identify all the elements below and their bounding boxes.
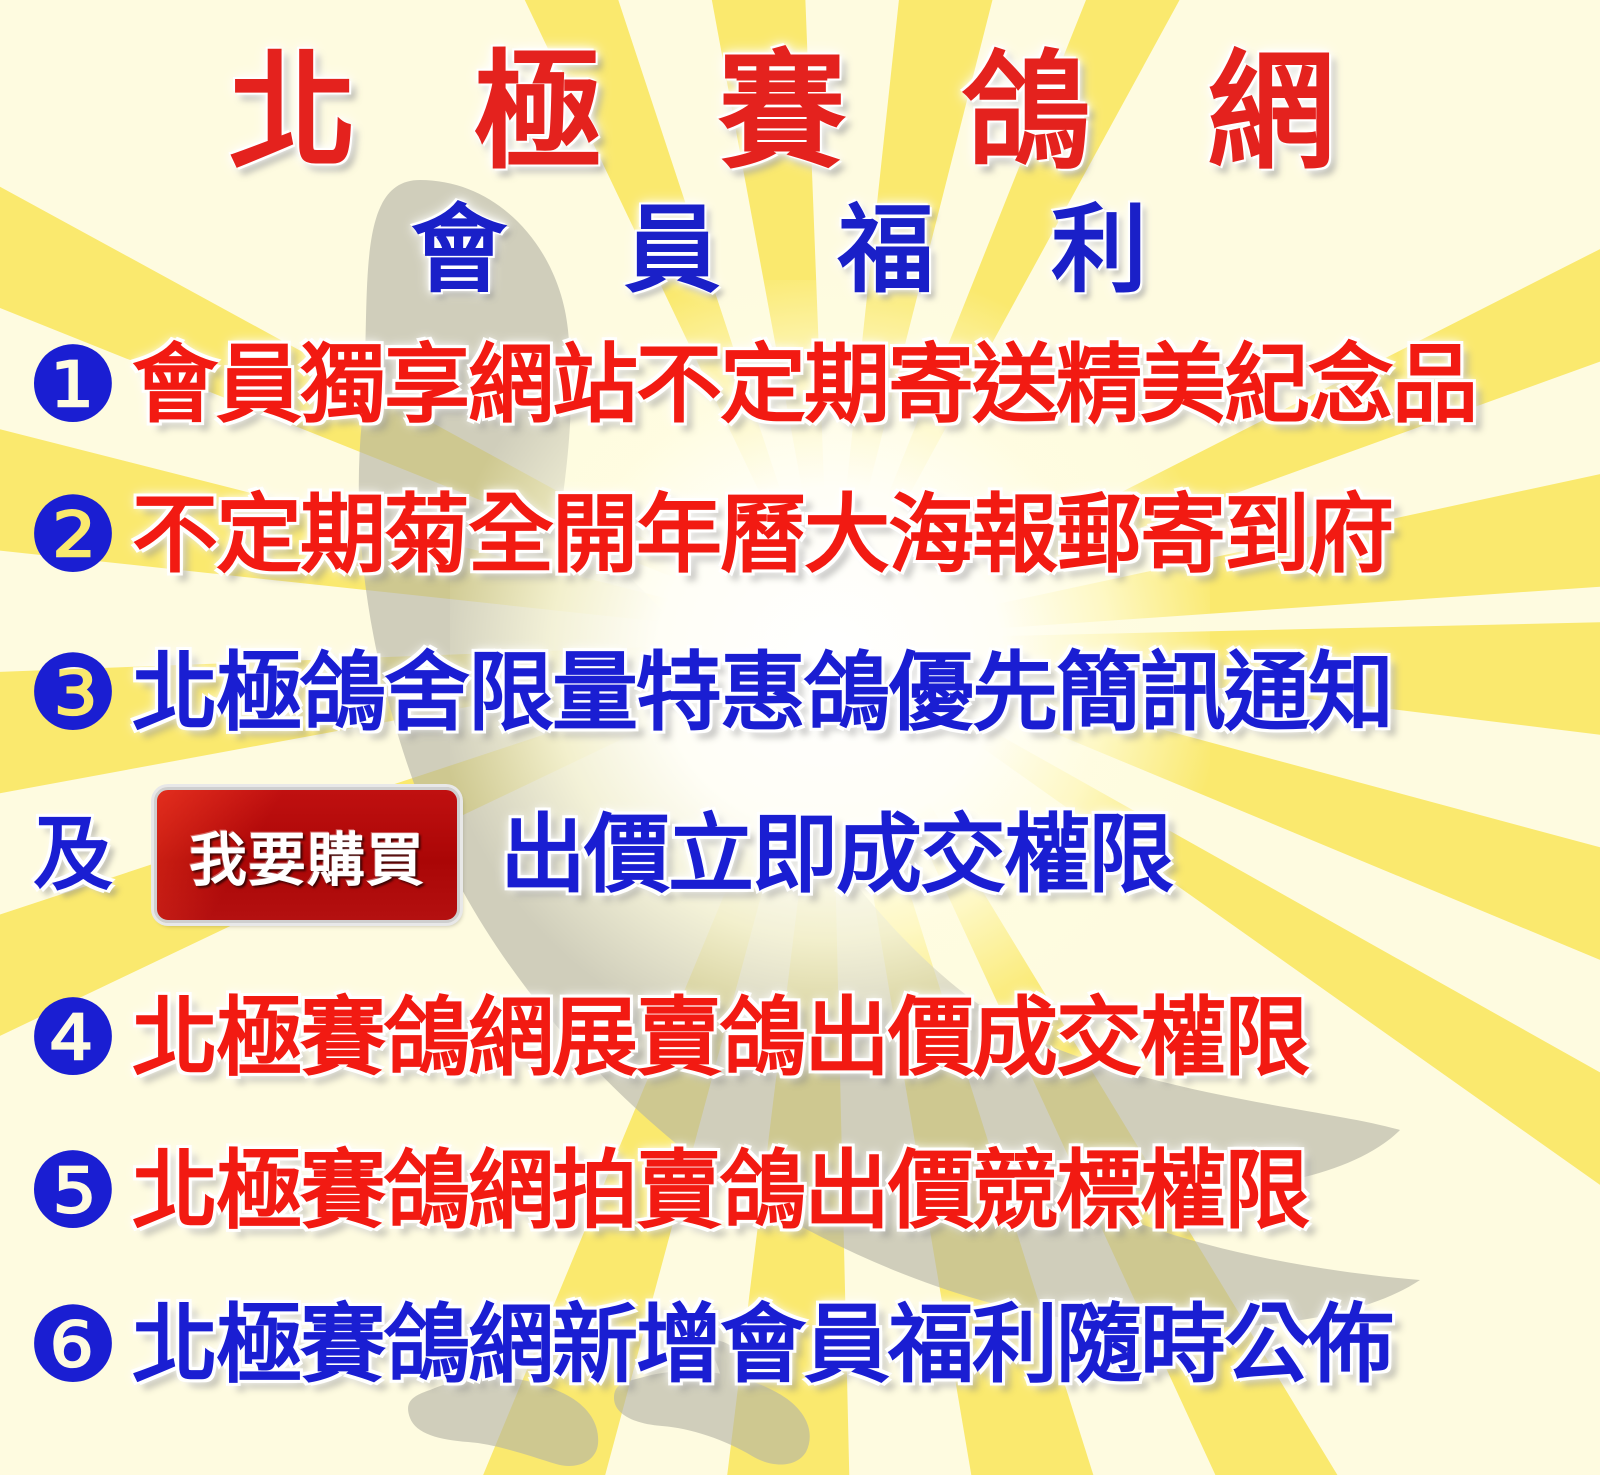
buy-now-button-label: 我要購買	[189, 813, 425, 897]
benefit-number-4: ❹	[14, 986, 132, 1090]
benefit-text-1: 會員獨享網站不定期寄送精美紀念品	[132, 342, 1476, 428]
benefit-row-2: ❷ 不定期菊全開年曆大海報郵寄到府	[0, 472, 1600, 598]
benefit-text-3: 北極鴿舍限量特惠鴿優先簡訊通知	[132, 650, 1392, 736]
benefit-row-4: ❹ 北極賽鴿網展賣鴿出價成交權限	[0, 975, 1600, 1101]
benefit-number-6: ❻	[14, 1293, 132, 1397]
purchase-row-prefix: 及	[14, 815, 132, 895]
benefit-number-5: ❺	[14, 1139, 132, 1243]
benefit-row-1: ❶ 會員獨享網站不定期寄送精美紀念品	[0, 322, 1600, 448]
benefit-text-4: 北極賽鴿網展賣鴿出價成交權限	[132, 995, 1308, 1081]
page-title-sub: 會 員 福 利	[0, 172, 1600, 311]
benefit-text-5: 北極賽鴿網拍賣鴿出價競標權限	[132, 1148, 1308, 1234]
benefit-text-2: 不定期菊全開年曆大海報郵寄到府	[132, 492, 1392, 578]
benefit-row-6: ❻ 北極賽鴿網新增會員福利隨時公佈	[0, 1282, 1600, 1408]
purchase-row-suffix: 出價立即成交權限	[500, 812, 1172, 898]
buy-now-button[interactable]: 我要購買	[154, 787, 460, 923]
page-title-main: 北 極 賽 鴿 網	[0, 8, 1600, 193]
member-benefits-poster: 北 極 賽 鴿 網 會 員 福 利 ❶ 會員獨享網站不定期寄送精美紀念品 ❷ 不…	[0, 0, 1600, 1475]
benefit-number-3: ❸	[14, 641, 132, 745]
benefit-row-3: ❸ 北極鴿舍限量特惠鴿優先簡訊通知	[0, 630, 1600, 756]
benefit-number-2: ❷	[14, 483, 132, 587]
benefit-text-6: 北極賽鴿網新增會員福利隨時公佈	[132, 1302, 1392, 1388]
purchase-permission-row: 及 我要購買 出價立即成交權限	[0, 780, 1600, 930]
benefit-row-5: ❺ 北極賽鴿網拍賣鴿出價競標權限	[0, 1128, 1600, 1254]
poster-content: 北 極 賽 鴿 網 會 員 福 利 ❶ 會員獨享網站不定期寄送精美紀念品 ❷ 不…	[0, 0, 1600, 1475]
benefit-number-1: ❶	[14, 333, 132, 437]
